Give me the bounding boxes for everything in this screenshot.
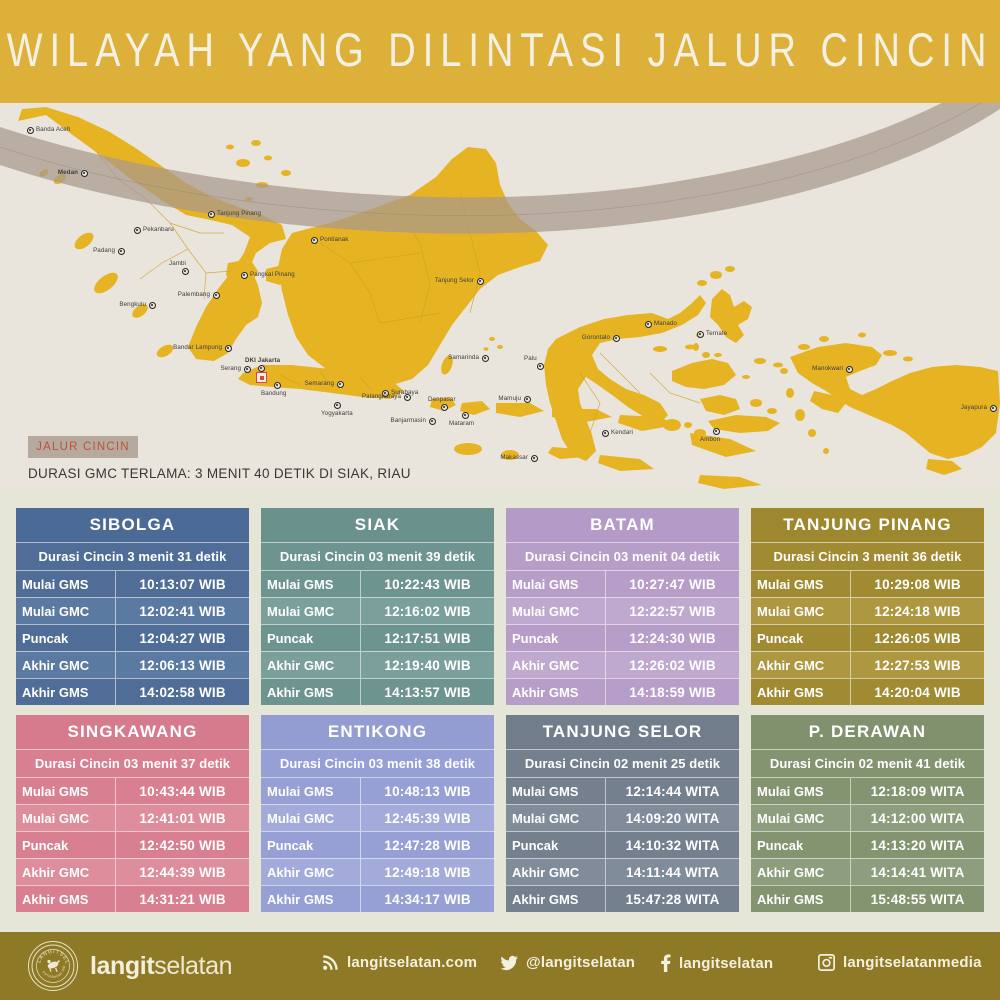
city-marker bbox=[134, 227, 141, 234]
footer-link-text: langitselatanmedia bbox=[843, 954, 982, 971]
row-value: 10:43:44 WIB bbox=[116, 778, 249, 804]
city-marker bbox=[846, 366, 853, 373]
row-label: Mulai GMC bbox=[261, 598, 361, 624]
row-value: 14:11:44 WITA bbox=[606, 859, 739, 885]
row-value: 12:26:05 WIB bbox=[851, 625, 984, 651]
table-row: Mulai GMC14:09:20 WITA bbox=[506, 804, 739, 831]
city-label: Pontianak bbox=[320, 236, 348, 243]
row-value: 14:13:57 WIB bbox=[361, 679, 494, 705]
row-value: 14:18:59 WIB bbox=[606, 679, 739, 705]
row-value: 10:22:43 WIB bbox=[361, 571, 494, 597]
svg-text:ASTRONOMI INDONESIA: ASTRONOMI INDONESIA bbox=[29, 942, 66, 979]
row-label: Mulai GMC bbox=[506, 598, 606, 624]
table-row: Akhir GMC12:27:53 WIB bbox=[751, 651, 984, 678]
footer-link-twitter[interactable]: @langitselatan bbox=[500, 954, 635, 971]
row-label: Mulai GMS bbox=[261, 778, 361, 804]
row-label: Mulai GMC bbox=[751, 598, 851, 624]
card-duration: Durasi Cincin 3 menit 36 detik bbox=[751, 542, 984, 570]
row-value: 12:19:40 WIB bbox=[361, 652, 494, 678]
city-label: Kendari bbox=[611, 429, 633, 436]
card-rows: Mulai GMS10:27:47 WIBMulai GMC12:22:57 W… bbox=[506, 570, 739, 705]
row-label: Akhir GMS bbox=[261, 886, 361, 912]
footer-link-text: @langitselatan bbox=[526, 954, 635, 971]
card-rows: Mulai GMS12:14:44 WITAMulai GMC14:09:20 … bbox=[506, 777, 739, 912]
city-marker bbox=[477, 278, 484, 285]
city-label: Banjarmasin bbox=[391, 417, 427, 424]
city-timing-grid: SIBOLGADurasi Cincin 3 menit 31 detikMul… bbox=[16, 508, 984, 912]
indonesia-map: Banda AcehMedanTanjung PinangPekanbaruPa… bbox=[0, 103, 1000, 490]
city-label: Palangkaraya bbox=[362, 393, 401, 400]
row-label: Mulai GMS bbox=[261, 571, 361, 597]
city-label: Gorontalo bbox=[582, 334, 610, 341]
row-label: Puncak bbox=[16, 832, 116, 858]
city-marker bbox=[990, 405, 997, 412]
table-row: Mulai GMS10:22:43 WIB bbox=[261, 570, 494, 597]
row-value: 14:12:00 WITA bbox=[851, 805, 984, 831]
city-timing-card: TANJUNG PINANGDurasi Cincin 3 menit 36 d… bbox=[751, 508, 984, 705]
city-label: Tanjung Selor bbox=[435, 277, 474, 284]
city-label: Mamuju bbox=[498, 395, 521, 402]
city-timing-card: SINGKAWANGDurasi Cincin 03 menit 37 deti… bbox=[16, 715, 249, 912]
row-label: Akhir GMC bbox=[506, 859, 606, 885]
rss-icon bbox=[322, 954, 339, 971]
row-label: Akhir GMC bbox=[16, 652, 116, 678]
row-value: 14:20:04 WIB bbox=[851, 679, 984, 705]
header-banner: WILAYAH YANG DILINTASI JALUR CINCIN bbox=[0, 0, 1000, 103]
city-marker bbox=[334, 402, 341, 409]
row-label: Akhir GMS bbox=[261, 679, 361, 705]
card-duration: Durasi Cincin 03 menit 37 detik bbox=[16, 749, 249, 777]
table-row: Akhir GMS15:47:28 WITA bbox=[506, 885, 739, 912]
card-rows: Mulai GMS10:43:44 WIBMulai GMC12:41:01 W… bbox=[16, 777, 249, 912]
row-label: Mulai GMC bbox=[261, 805, 361, 831]
row-value: 12:45:39 WIB bbox=[361, 805, 494, 831]
city-label: Medan bbox=[58, 169, 78, 176]
table-row: Mulai GMC12:45:39 WIB bbox=[261, 804, 494, 831]
city-label: Bandung bbox=[261, 390, 286, 397]
row-value: 14:09:20 WITA bbox=[606, 805, 739, 831]
city-marker bbox=[213, 292, 220, 299]
row-value: 12:14:44 WITA bbox=[606, 778, 739, 804]
footer-link-text: langitselatan.com bbox=[347, 954, 477, 971]
city-label: Semarang bbox=[305, 380, 334, 387]
city-marker bbox=[241, 272, 248, 279]
city-marker bbox=[482, 355, 489, 362]
table-row: Puncak12:42:50 WIB bbox=[16, 831, 249, 858]
row-value: 14:34:17 WIB bbox=[361, 886, 494, 912]
row-label: Mulai GMS bbox=[751, 571, 851, 597]
row-value: 12:04:27 WIB bbox=[116, 625, 249, 651]
row-value: 12:42:50 WIB bbox=[116, 832, 249, 858]
city-timing-card: SIAKDurasi Cincin 03 menit 39 detikMulai… bbox=[261, 508, 494, 705]
twitter-icon bbox=[500, 955, 518, 971]
row-value: 10:29:08 WIB bbox=[851, 571, 984, 597]
table-row: Akhir GMS14:31:21 WIB bbox=[16, 885, 249, 912]
row-value: 12:44:39 WIB bbox=[116, 859, 249, 885]
row-value: 12:24:30 WIB bbox=[606, 625, 739, 651]
row-label: Mulai GMS bbox=[751, 778, 851, 804]
city-label: Manado bbox=[654, 320, 677, 327]
city-label: Samarinda bbox=[448, 354, 479, 361]
row-value: 12:22:57 WIB bbox=[606, 598, 739, 624]
row-label: Puncak bbox=[261, 832, 361, 858]
table-row: Mulai GMS10:27:47 WIB bbox=[506, 570, 739, 597]
footer-bar: LANGITSELATAN ASTRONOMI INDONESIA langit… bbox=[0, 932, 1000, 1000]
row-value: 12:27:53 WIB bbox=[851, 652, 984, 678]
table-row: Akhir GMC14:11:44 WITA bbox=[506, 858, 739, 885]
city-marker bbox=[182, 268, 189, 275]
table-row: Mulai GMC12:24:18 WIB bbox=[751, 597, 984, 624]
row-value: 12:41:01 WIB bbox=[116, 805, 249, 831]
row-value: 12:18:09 WITA bbox=[851, 778, 984, 804]
table-row: Akhir GMC12:49:18 WIB bbox=[261, 858, 494, 885]
city-label: Pangkal Pinang bbox=[250, 271, 295, 278]
table-row: Puncak12:17:51 WIB bbox=[261, 624, 494, 651]
row-label: Puncak bbox=[261, 625, 361, 651]
table-row: Mulai GMS10:48:13 WIB bbox=[261, 777, 494, 804]
row-value: 10:48:13 WIB bbox=[361, 778, 494, 804]
card-rows: Mulai GMS10:22:43 WIBMulai GMC12:16:02 W… bbox=[261, 570, 494, 705]
city-marker bbox=[225, 345, 232, 352]
city-label: Palu bbox=[524, 355, 537, 362]
city-marker bbox=[524, 396, 531, 403]
card-city-title: BATAM bbox=[506, 508, 739, 542]
facebook-icon bbox=[660, 954, 671, 972]
table-row: Akhir GMC12:44:39 WIB bbox=[16, 858, 249, 885]
row-label: Akhir GMC bbox=[261, 859, 361, 885]
footer-link-facebook[interactable]: langitselatan bbox=[660, 954, 773, 972]
table-row: Akhir GMC14:14:41 WITA bbox=[751, 858, 984, 885]
table-row: Akhir GMC12:19:40 WIB bbox=[261, 651, 494, 678]
row-label: Puncak bbox=[506, 625, 606, 651]
city-marker bbox=[531, 455, 538, 462]
city-marker bbox=[441, 404, 448, 411]
row-label: Akhir GMC bbox=[506, 652, 606, 678]
city-marker bbox=[149, 302, 156, 309]
instagram-icon bbox=[818, 954, 835, 971]
city-marker bbox=[404, 394, 411, 401]
card-city-title: TANJUNG SELOR bbox=[506, 715, 739, 749]
row-label: Mulai GMC bbox=[16, 805, 116, 831]
card-city-title: SIBOLGA bbox=[16, 508, 249, 542]
city-timing-card: ENTIKONGDurasi Cincin 03 menit 38 detikM… bbox=[261, 715, 494, 912]
row-value: 10:13:07 WIB bbox=[116, 571, 249, 597]
card-city-title: SIAK bbox=[261, 508, 494, 542]
city-label: DKI Jakarta bbox=[245, 357, 280, 364]
row-label: Akhir GMC bbox=[751, 652, 851, 678]
row-value: 14:10:32 WITA bbox=[606, 832, 739, 858]
page-title: WILAYAH YANG DILINTASI JALUR CINCIN bbox=[7, 25, 994, 79]
card-duration: Durasi Cincin 03 menit 38 detik bbox=[261, 749, 494, 777]
row-value: 12:17:51 WIB bbox=[361, 625, 494, 651]
city-marker bbox=[645, 321, 652, 328]
city-label: Padang bbox=[93, 247, 115, 254]
table-row: Akhir GMS15:48:55 WITA bbox=[751, 885, 984, 912]
table-row: Puncak14:10:32 WITA bbox=[506, 831, 739, 858]
row-label: Akhir GMC bbox=[751, 859, 851, 885]
table-row: Akhir GMS14:02:58 WIB bbox=[16, 678, 249, 705]
row-label: Akhir GMS bbox=[506, 679, 606, 705]
card-rows: Mulai GMS10:13:07 WIBMulai GMC12:02:41 W… bbox=[16, 570, 249, 705]
capital-marker-jakarta bbox=[256, 372, 267, 383]
city-marker bbox=[118, 248, 125, 255]
city-label: Jambi bbox=[169, 260, 186, 267]
table-row: Puncak12:26:05 WIB bbox=[751, 624, 984, 651]
row-label: Akhir GMC bbox=[261, 652, 361, 678]
row-value: 12:24:18 WIB bbox=[851, 598, 984, 624]
city-label: Banda Aceh bbox=[36, 126, 70, 133]
table-row: Mulai GMS10:43:44 WIB bbox=[16, 777, 249, 804]
card-city-title: SINGKAWANG bbox=[16, 715, 249, 749]
city-marker bbox=[462, 412, 469, 419]
brand-light: selatan bbox=[154, 952, 232, 980]
langitselatan-logo: LANGITSELATAN ASTRONOMI INDONESIA bbox=[28, 941, 78, 991]
row-label: Mulai GMS bbox=[16, 571, 116, 597]
row-label: Akhir GMS bbox=[506, 886, 606, 912]
row-label: Puncak bbox=[751, 832, 851, 858]
table-row: Akhir GMC12:06:13 WIB bbox=[16, 651, 249, 678]
brand-bold: langit bbox=[90, 952, 154, 980]
footer-link-instagram[interactable]: langitselatanmedia bbox=[818, 954, 982, 971]
table-row: Akhir GMS14:34:17 WIB bbox=[261, 885, 494, 912]
table-row: Puncak12:04:27 WIB bbox=[16, 624, 249, 651]
row-label: Akhir GMS bbox=[751, 886, 851, 912]
city-marker bbox=[713, 428, 720, 435]
city-label: Ambon bbox=[700, 436, 720, 443]
footer-link-text: langitselatan bbox=[679, 955, 773, 972]
city-label: Denpasar bbox=[428, 396, 456, 403]
row-value: 10:27:47 WIB bbox=[606, 571, 739, 597]
city-label: Manokwari bbox=[812, 365, 843, 372]
row-label: Akhir GMS bbox=[751, 679, 851, 705]
city-label: Mataram bbox=[449, 420, 474, 427]
table-row: Mulai GMC14:12:00 WITA bbox=[751, 804, 984, 831]
city-timing-card: TANJUNG SELORDurasi Cincin 02 menit 25 d… bbox=[506, 715, 739, 912]
city-marker bbox=[274, 382, 281, 389]
city-label: Bandar Lampung bbox=[173, 344, 222, 351]
city-marker bbox=[337, 381, 344, 388]
table-row: Akhir GMS14:20:04 WIB bbox=[751, 678, 984, 705]
row-label: Akhir GMS bbox=[16, 886, 116, 912]
row-label: Mulai GMS bbox=[16, 778, 116, 804]
card-duration: Durasi Cincin 03 menit 04 detik bbox=[506, 542, 739, 570]
row-label: Akhir GMC bbox=[16, 859, 116, 885]
card-duration: Durasi Cincin 3 menit 31 detik bbox=[16, 542, 249, 570]
card-city-title: TANJUNG PINANG bbox=[751, 508, 984, 542]
table-row: Puncak12:47:28 WIB bbox=[261, 831, 494, 858]
infographic-page: WILAYAH YANG DILINTASI JALUR CINCIN bbox=[0, 0, 1000, 1000]
table-row: Mulai GMS10:29:08 WIB bbox=[751, 570, 984, 597]
city-label: Tanjung Pinang bbox=[217, 210, 261, 217]
row-value: 15:47:28 WITA bbox=[606, 886, 739, 912]
row-value: 12:49:18 WIB bbox=[361, 859, 494, 885]
city-label: Serang bbox=[220, 365, 241, 372]
row-value: 12:47:28 WIB bbox=[361, 832, 494, 858]
row-value: 12:06:13 WIB bbox=[116, 652, 249, 678]
row-label: Mulai GMS bbox=[506, 571, 606, 597]
table-row: Mulai GMS10:13:07 WIB bbox=[16, 570, 249, 597]
row-value: 15:48:55 WITA bbox=[851, 886, 984, 912]
row-value: 14:13:20 WITA bbox=[851, 832, 984, 858]
row-label: Akhir GMS bbox=[16, 679, 116, 705]
city-marker bbox=[311, 237, 318, 244]
row-label: Mulai GMC bbox=[751, 805, 851, 831]
table-row: Mulai GMC12:41:01 WIB bbox=[16, 804, 249, 831]
card-rows: Mulai GMS12:18:09 WITAMulai GMC14:12:00 … bbox=[751, 777, 984, 912]
city-marker bbox=[27, 127, 34, 134]
row-value: 12:02:41 WIB bbox=[116, 598, 249, 624]
table-row: Mulai GMS12:14:44 WITA bbox=[506, 777, 739, 804]
city-label: Jayapura bbox=[961, 404, 987, 411]
city-marker bbox=[602, 430, 609, 437]
row-value: 14:14:41 WITA bbox=[851, 859, 984, 885]
row-value: 12:16:02 WIB bbox=[361, 598, 494, 624]
city-label: Ternate bbox=[706, 330, 727, 337]
city-timing-card: P. DERAWANDurasi Cincin 02 menit 41 deti… bbox=[751, 715, 984, 912]
city-marker bbox=[81, 170, 88, 177]
row-label: Mulai GMC bbox=[506, 805, 606, 831]
table-row: Mulai GMC12:16:02 WIB bbox=[261, 597, 494, 624]
row-label: Mulai GMS bbox=[506, 778, 606, 804]
city-marker bbox=[208, 211, 215, 218]
legend-jalur-cincin: JALUR CINCIN bbox=[28, 436, 138, 458]
table-row: Akhir GMS14:13:57 WIB bbox=[261, 678, 494, 705]
table-row: Puncak14:13:20 WITA bbox=[751, 831, 984, 858]
table-row: Mulai GMS12:18:09 WITA bbox=[751, 777, 984, 804]
row-value: 14:31:21 WIB bbox=[116, 886, 249, 912]
footer-link-website[interactable]: langitselatan.com bbox=[322, 954, 477, 971]
legend-label: JALUR CINCIN bbox=[36, 441, 130, 453]
table-row: Akhir GMC12:26:02 WIB bbox=[506, 651, 739, 678]
card-duration: Durasi Cincin 02 menit 25 detik bbox=[506, 749, 739, 777]
row-label: Puncak bbox=[16, 625, 116, 651]
city-marker bbox=[537, 363, 544, 370]
city-marker bbox=[258, 365, 265, 372]
city-label: Pekanbaru bbox=[143, 226, 174, 233]
card-city-title: P. DERAWAN bbox=[751, 715, 984, 749]
city-timing-card: BATAMDurasi Cincin 03 menit 04 detikMula… bbox=[506, 508, 739, 705]
city-marker bbox=[429, 418, 436, 425]
city-timing-card: SIBOLGADurasi Cincin 3 menit 31 detikMul… bbox=[16, 508, 249, 705]
card-rows: Mulai GMS10:29:08 WIBMulai GMC12:24:18 W… bbox=[751, 570, 984, 705]
row-label: Mulai GMC bbox=[16, 598, 116, 624]
table-row: Puncak12:24:30 WIB bbox=[506, 624, 739, 651]
table-row: Mulai GMC12:22:57 WIB bbox=[506, 597, 739, 624]
card-rows: Mulai GMS10:48:13 WIBMulai GMC12:45:39 W… bbox=[261, 777, 494, 912]
card-duration: Durasi Cincin 03 menit 39 detik bbox=[261, 542, 494, 570]
row-label: Puncak bbox=[506, 832, 606, 858]
city-label: Makassar bbox=[500, 454, 528, 461]
city-label: Bengkulu bbox=[119, 301, 146, 308]
card-city-title: ENTIKONG bbox=[261, 715, 494, 749]
card-duration: Durasi Cincin 02 menit 41 detik bbox=[751, 749, 984, 777]
city-marker bbox=[244, 366, 251, 373]
map-note: DURASI GMC TERLAMA: 3 MENIT 40 DETIK DI … bbox=[28, 466, 411, 481]
city-label: Palembang bbox=[178, 291, 210, 298]
brand-wordmark: langitselatan bbox=[90, 952, 232, 981]
row-value: 12:26:02 WIB bbox=[606, 652, 739, 678]
row-label: Puncak bbox=[751, 625, 851, 651]
row-value: 14:02:58 WIB bbox=[116, 679, 249, 705]
map-graphic bbox=[0, 103, 1000, 490]
table-row: Akhir GMS14:18:59 WIB bbox=[506, 678, 739, 705]
city-marker bbox=[613, 335, 620, 342]
city-label: Yogyakarta bbox=[321, 410, 353, 417]
table-row: Mulai GMC12:02:41 WIB bbox=[16, 597, 249, 624]
city-marker bbox=[697, 331, 704, 338]
